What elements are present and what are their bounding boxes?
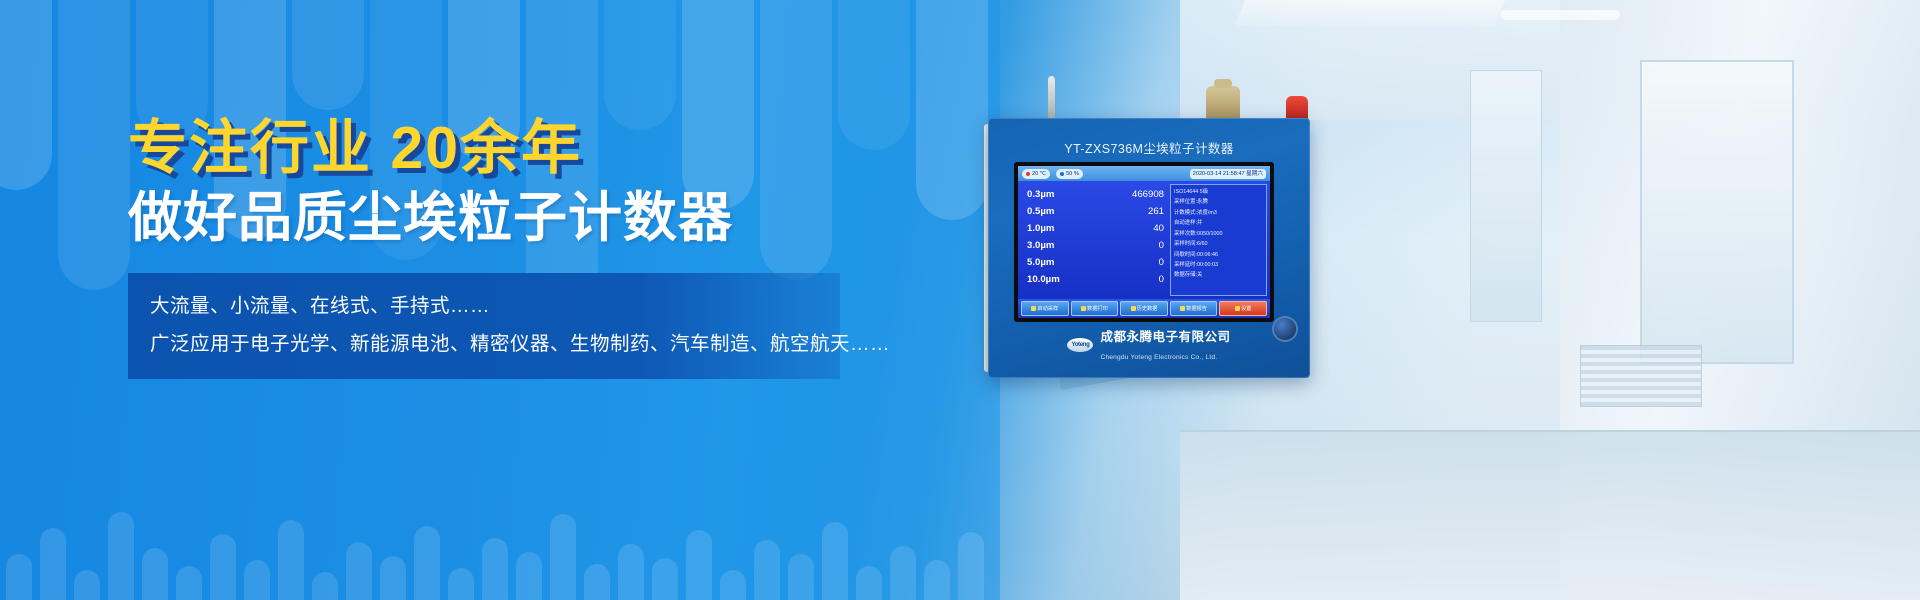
headline-block: 专注行业 20余年 做好品质尘埃粒子计数器 大流量、小流量、在线式、手持式…… … [128, 118, 888, 379]
corridor-lamp [1500, 10, 1620, 20]
brand-name-cn: 成都永腾电子有限公司 [1100, 330, 1230, 344]
setting-row: 间歇时间:00:06:46 [1174, 250, 1263, 260]
particle-size: 0.5µm [1027, 203, 1054, 220]
particle-table: 0.3µm 466908 0.5µm 261 1.0µm 40 3.0µm [1018, 181, 1170, 299]
table-row: 10.0µm 0 [1027, 271, 1164, 288]
temperature-value: 20 ℃ [1032, 169, 1046, 179]
particle-size: 3.0µm [1027, 237, 1054, 254]
table-row: 1.0µm 40 [1027, 220, 1164, 237]
sensor-probe-icon [1206, 86, 1240, 120]
yoteng-logo-icon: Yoteng [1067, 338, 1093, 352]
table-row: 3.0µm 0 [1027, 237, 1164, 254]
lcd-main-area: 0.3µm 466908 0.5µm 261 1.0µm 40 3.0µm [1018, 181, 1270, 299]
sub-line-2: 广泛应用于电子光学、新能源电池、精密仪器、生物制药、汽车制造、航空航天…… [150, 325, 840, 363]
brand-name-en: Chengdu Yoteng Electronics Co., Ltd. [1100, 354, 1217, 361]
corridor-door [1640, 60, 1794, 364]
particle-count: 0 [1159, 254, 1164, 271]
device-lcd-screen[interactable]: 20 ℃ 50 % 2020-03-14 21:58:47 星期六 0.3µm … [1014, 162, 1274, 322]
headline-secondary: 做好品质尘埃粒子计数器 [128, 190, 888, 247]
lcd-status-bar: 20 ℃ 50 % 2020-03-14 21:58:47 星期六 [1018, 166, 1270, 181]
setting-row: ISO14644 5级 [1174, 187, 1263, 197]
history-data-button[interactable]: 历史数据 [1120, 301, 1168, 316]
particle-counter-device: YT-ZXS736M尘埃粒子计数器 20 ℃ 50 % 2020-03-14 2… [988, 118, 1310, 378]
humidity-value: 50 % [1066, 169, 1079, 179]
button-label: 设置 [1241, 305, 1251, 312]
particle-size: 1.0µm [1027, 220, 1054, 237]
temperature-chip: 20 ℃ [1022, 169, 1050, 179]
button-label: 数据打印 [1087, 305, 1108, 312]
particle-size: 5.0µm [1027, 254, 1054, 271]
bottom-equalizer-pattern [0, 480, 1920, 600]
particle-count: 0 [1159, 271, 1164, 288]
settings-panel: ISO14644 5级 采样位置:永腾 计数模式:浓度/m3 自动进样:并 采样… [1170, 184, 1267, 296]
particle-size: 10.0µm [1027, 271, 1060, 288]
sub-description-box: 大流量、小流量、在线式、手持式…… 广泛应用于电子光学、新能源电池、精密仪器、生… [128, 273, 840, 379]
device-model-label: YT-ZXS736M尘埃粒子计数器 [988, 138, 1310, 157]
table-row: 5.0µm 0 [1027, 254, 1164, 271]
history-icon [1131, 306, 1136, 311]
floor-edge-line [1180, 430, 1920, 432]
data-report-button[interactable]: 数据报告 [1170, 301, 1218, 316]
settings-button[interactable]: 设置 [1219, 301, 1267, 316]
particle-count: 40 [1153, 220, 1164, 237]
button-label: 数据报告 [1186, 305, 1207, 312]
setting-row: 采样时间:6/60 [1174, 239, 1263, 249]
table-row: 0.3µm 466908 [1027, 186, 1164, 203]
particle-count: 261 [1148, 203, 1164, 220]
printer-icon [1081, 306, 1086, 311]
setting-row: 自动进样:并 [1174, 218, 1263, 228]
particle-size: 0.3µm [1027, 186, 1054, 203]
humidity-chip: 50 % [1056, 169, 1083, 179]
particle-count: 466908 [1132, 186, 1164, 203]
sub-line-1: 大流量、小流量、在线式、手持式…… [150, 287, 840, 325]
wall-vent [1580, 345, 1702, 407]
gear-icon [1235, 306, 1240, 311]
play-icon [1031, 306, 1036, 311]
droplet-icon [1060, 172, 1064, 176]
button-label: 启动采样 [1037, 305, 1058, 312]
button-label: 历史数据 [1137, 305, 1158, 312]
datetime-display: 2020-03-14 21:58:47 星期六 [1190, 169, 1266, 179]
headline-primary: 专注行业 20余年 [128, 118, 888, 178]
antenna-icon [1048, 76, 1055, 122]
device-body: YT-ZXS736M尘埃粒子计数器 20 ℃ 50 % 2020-03-14 2… [988, 118, 1310, 378]
setting-row: 采样延时:00:00:03 [1174, 260, 1263, 270]
start-sampling-button[interactable]: 启动采样 [1021, 301, 1069, 316]
report-icon [1180, 306, 1185, 311]
lcd-button-bar: 启动采样 数据打印 历史数据 数据报告 [1018, 299, 1270, 318]
setting-row: 计数模式:浓度/m3 [1174, 208, 1263, 218]
ceiling-light-strip [1235, 0, 1506, 26]
thermometer-icon [1026, 172, 1030, 176]
promo-banner: 专注行业 20余年 做好品质尘埃粒子计数器 大流量、小流量、在线式、手持式…… … [0, 0, 1920, 600]
corridor-window [1470, 70, 1542, 322]
setting-row: 采样位置:永腾 [1174, 197, 1263, 207]
setting-row: 采样次数:0050/1000 [1174, 229, 1263, 239]
print-data-button[interactable]: 数据打印 [1071, 301, 1119, 316]
device-branding: Yoteng 成都永腾电子有限公司 Chengdu Yoteng Electro… [988, 326, 1310, 364]
setting-row: 数据存储:关 [1174, 270, 1263, 280]
particle-count: 0 [1159, 237, 1164, 254]
table-row: 0.5µm 261 [1027, 203, 1164, 220]
